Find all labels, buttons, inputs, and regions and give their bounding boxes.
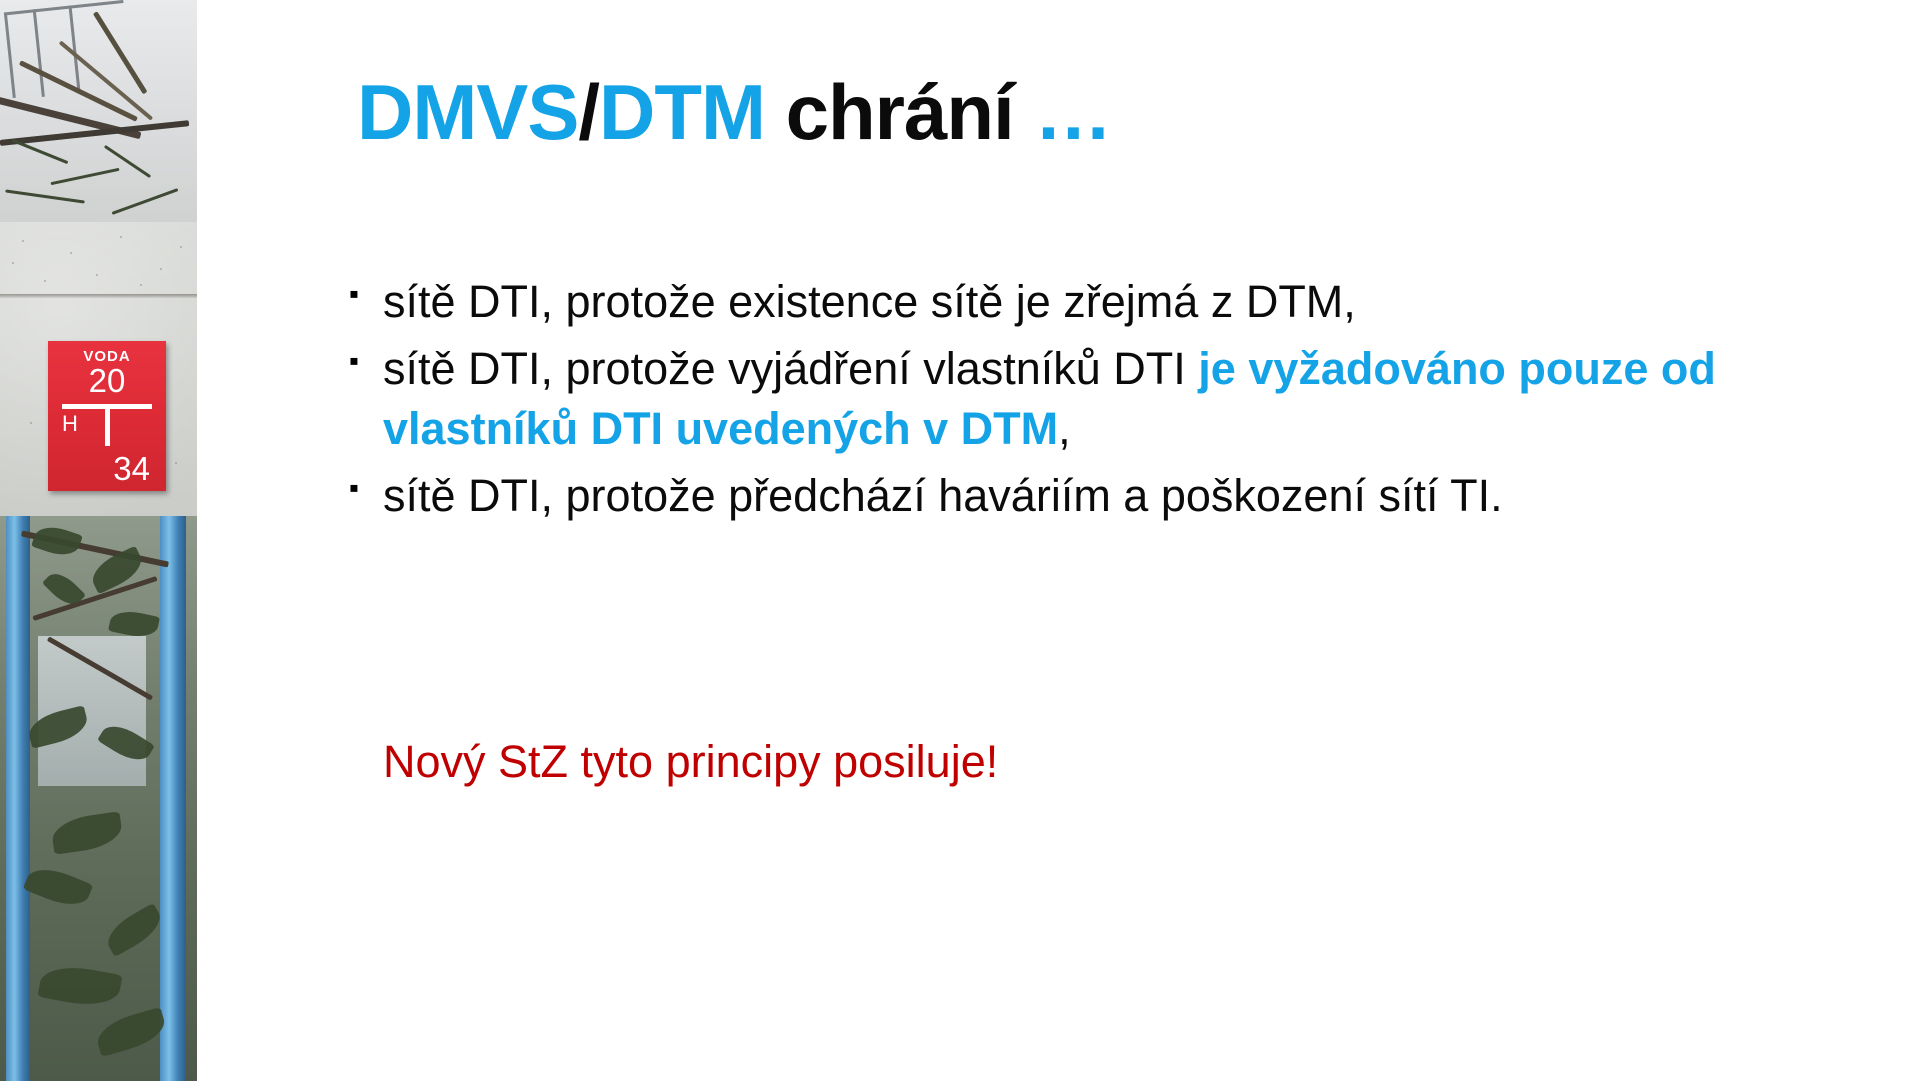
pine-needle [50, 168, 119, 185]
leaf [23, 861, 94, 913]
list-item: ▪ sítě DTI, protože vyjádření vlastníků … [349, 339, 1799, 458]
title-part-chrani: chrání [765, 68, 1034, 156]
background-window [38, 636, 146, 786]
leaf [101, 903, 167, 957]
page-title: DMVS/DTM chrání … [357, 72, 1111, 154]
bullet-list: ▪ sítě DTI, protože existence sítě je zř… [349, 272, 1799, 534]
hydrant-sign-bottom-number: 34 [113, 452, 150, 485]
leaf [50, 811, 124, 854]
blue-pipe [160, 516, 186, 1081]
title-part-dtm: DTM [599, 68, 765, 156]
list-item: ▪ sítě DTI, protože existence sítě je zř… [349, 272, 1799, 331]
list-item-text: sítě DTI, protože předchází haváriím a p… [383, 466, 1799, 525]
bullet-square-icon: ▪ [349, 466, 383, 509]
list-item-text: sítě DTI, protože vyjádření vlastníků DT… [383, 339, 1799, 458]
list-item: ▪ sítě DTI, protože předchází haváriím a… [349, 466, 1799, 525]
bullet-2-segment-normal: sítě DTI, protože vyjádření vlastníků DT… [383, 343, 1198, 394]
hydrant-sign-vline [105, 404, 110, 446]
pine-needle [112, 188, 179, 215]
leaf [37, 961, 122, 1010]
title-part-dmvs: DMVS [357, 68, 578, 156]
decorative-photo-strip: VODA 20 H 34 [0, 0, 197, 1081]
bullet-2-segment-trailing: , [1058, 403, 1071, 454]
hydrant-sign: VODA 20 H 34 [48, 341, 166, 491]
title-separator: / [578, 68, 599, 156]
list-item-text: sítě DTI, protože existence sítě je zřej… [383, 272, 1799, 331]
leaf [31, 522, 83, 561]
bullet-3-segment-normal: sítě DTI, protože předchází haváriím a p… [383, 470, 1503, 521]
bullet-square-icon: ▪ [349, 339, 383, 382]
hydrant-sign-letter: H [62, 411, 78, 437]
pine-needle [5, 189, 85, 203]
photo-foliage-pipes [0, 516, 197, 1081]
bullet-square-icon: ▪ [349, 272, 383, 315]
leaf [93, 1007, 169, 1057]
title-ellipsis: … [1034, 68, 1111, 156]
pine-needle [12, 139, 69, 164]
pine-needle [104, 145, 151, 178]
photo-sky-branches [0, 0, 197, 230]
bullet-1-segment-normal: sítě DTI, protože existence sítě je zřej… [383, 276, 1356, 327]
hydrant-sign-top-number: 20 [48, 364, 166, 397]
blue-pipe [6, 516, 30, 1081]
highlight-note: Nový StZ tyto principy posiluje! [383, 735, 998, 789]
slide-content: DMVS/DTM chrání … ▪ sítě DTI, protože ex… [197, 0, 1920, 1081]
